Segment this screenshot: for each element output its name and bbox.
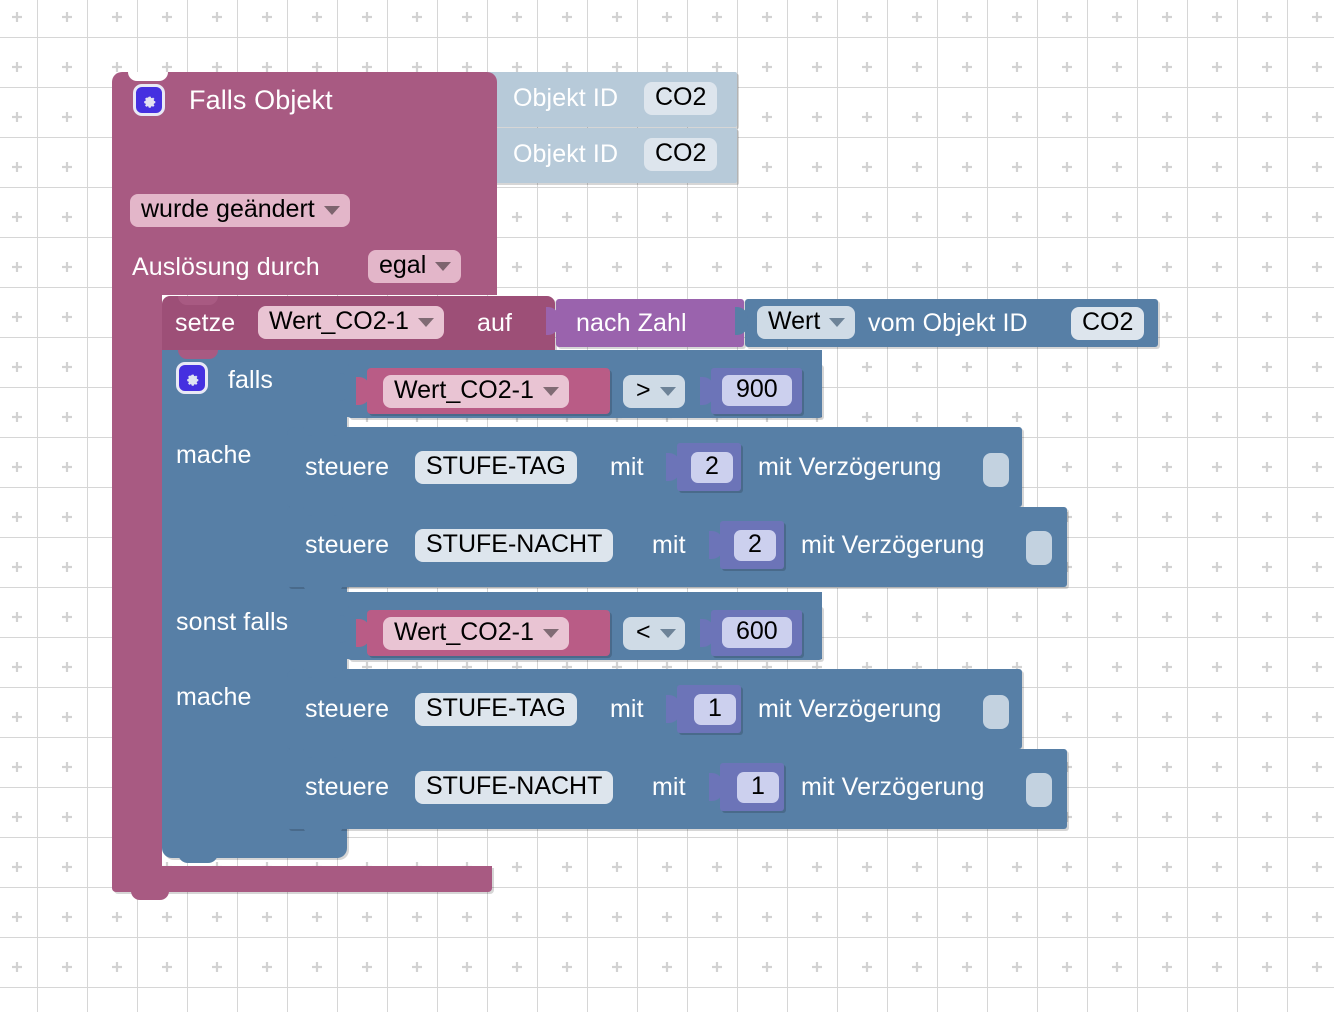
getter-property-value: Wert bbox=[768, 309, 820, 334]
else1-delay-label: mit Verzögerung bbox=[758, 697, 942, 722]
else2-top-notch bbox=[303, 749, 343, 758]
else2-target-field[interactable]: STUFE-NACHT bbox=[415, 771, 613, 804]
gear-glyph bbox=[183, 369, 201, 387]
object-id-value-block-2[interactable]: Objekt ID CO2 bbox=[487, 128, 737, 183]
then1-target-field[interactable]: STUFE-TAG bbox=[415, 451, 577, 484]
object-id-field-2[interactable]: CO2 bbox=[644, 138, 717, 171]
else1-top-notch bbox=[303, 669, 343, 678]
then1-delay-input[interactable] bbox=[983, 453, 1009, 487]
chevron-down-icon bbox=[435, 262, 451, 271]
event-gear-icon[interactable] bbox=[133, 84, 165, 116]
condition1-number-field[interactable]: 900 bbox=[722, 375, 792, 406]
else1-target-field[interactable]: STUFE-TAG bbox=[415, 693, 577, 726]
gear-glyph bbox=[140, 91, 158, 109]
trigger-type-dropdown[interactable]: wurde geändert bbox=[130, 194, 350, 227]
else2-delay-input[interactable] bbox=[1026, 773, 1052, 807]
chevron-down-icon bbox=[418, 318, 434, 327]
chevron-down-icon bbox=[660, 387, 676, 396]
event-block-bottom-bar bbox=[112, 866, 492, 892]
trigger-source-value: egal bbox=[379, 253, 426, 278]
set-keyword: setze bbox=[175, 311, 235, 336]
if-block-bottom-notch bbox=[178, 853, 218, 863]
condition1-variable-dropdown[interactable]: Wert_CO2-1 bbox=[383, 375, 569, 408]
do-label-1: mache bbox=[176, 443, 252, 468]
else1-with-label: mit bbox=[610, 697, 644, 722]
then1-top-notch bbox=[303, 427, 343, 436]
event-block-top-notch bbox=[128, 72, 168, 81]
elseif-label: sonst falls bbox=[176, 610, 288, 635]
chevron-down-icon bbox=[660, 629, 676, 638]
do-label-2: mache bbox=[176, 685, 252, 710]
then2-bottom-notch bbox=[303, 583, 343, 593]
set-block-top-notch bbox=[178, 296, 218, 305]
else1-delay-input[interactable] bbox=[983, 695, 1009, 729]
else2-delay-label: mit Verzögerung bbox=[801, 775, 985, 800]
then2-keyword: steuere bbox=[305, 533, 389, 558]
then2-top-notch bbox=[303, 507, 343, 516]
then1-value-field[interactable]: 2 bbox=[691, 452, 733, 483]
set-variable-dropdown[interactable]: Wert_CO2-1 bbox=[258, 306, 444, 339]
event-block-title: Falls Objekt bbox=[189, 87, 333, 114]
blockly-workspace[interactable]: Objekt ID CO2 Objekt ID CO2 Falls Objekt… bbox=[0, 0, 1334, 1012]
then2-with-label: mit bbox=[652, 533, 686, 558]
getter-from-label: vom Objekt ID bbox=[868, 311, 1028, 336]
condition2-variable-dropdown[interactable]: Wert_CO2-1 bbox=[383, 617, 569, 650]
else2-with-label: mit bbox=[652, 775, 686, 800]
chevron-down-icon bbox=[324, 206, 340, 215]
else1-value-field[interactable]: 1 bbox=[694, 694, 736, 725]
set-to-label: auf bbox=[477, 311, 512, 336]
object-id-value-block-1[interactable]: Objekt ID CO2 bbox=[487, 72, 737, 127]
trigger-source-label: Auslösung durch bbox=[132, 255, 320, 280]
trigger-type-value: wurde geändert bbox=[141, 197, 315, 222]
condition1-variable-value: Wert_CO2-1 bbox=[394, 378, 534, 403]
else2-keyword: steuere bbox=[305, 775, 389, 800]
chevron-down-icon bbox=[543, 387, 559, 396]
trigger-source-dropdown[interactable]: egal bbox=[368, 250, 461, 283]
convert-to-number-label: nach Zahl bbox=[576, 311, 687, 336]
if-block-top-notch bbox=[178, 350, 218, 359]
then2-delay-label: mit Verzögerung bbox=[801, 533, 985, 558]
event-block-left-spine bbox=[112, 290, 162, 873]
then1-with-label: mit bbox=[610, 455, 644, 480]
object-id-label-2: Objekt ID bbox=[513, 142, 618, 167]
chevron-down-icon bbox=[543, 629, 559, 638]
event-block-bottom-plug bbox=[131, 890, 169, 900]
else1-keyword: steuere bbox=[305, 697, 389, 722]
condition2-variable-value: Wert_CO2-1 bbox=[394, 620, 534, 645]
if-label: falls bbox=[228, 368, 273, 393]
condition2-operator-dropdown[interactable]: < bbox=[623, 617, 685, 650]
then1-keyword: steuere bbox=[305, 455, 389, 480]
getter-property-dropdown[interactable]: Wert bbox=[757, 306, 855, 339]
condition2-operator-value: < bbox=[636, 620, 651, 645]
set-variable-value: Wert_CO2-1 bbox=[269, 309, 409, 334]
then1-delay-label: mit Verzögerung bbox=[758, 455, 942, 480]
condition2-number-field[interactable]: 600 bbox=[722, 617, 792, 648]
object-id-label-1: Objekt ID bbox=[513, 86, 618, 111]
then2-delay-input[interactable] bbox=[1026, 531, 1052, 565]
getter-object-id-field[interactable]: CO2 bbox=[1071, 307, 1144, 340]
if-gear-icon[interactable] bbox=[176, 362, 208, 394]
else2-bottom-notch bbox=[303, 825, 343, 835]
chevron-down-icon bbox=[829, 318, 845, 327]
else2-value-field[interactable]: 1 bbox=[737, 772, 779, 803]
then2-target-field[interactable]: STUFE-NACHT bbox=[415, 529, 613, 562]
condition1-operator-value: > bbox=[636, 378, 651, 403]
condition1-operator-dropdown[interactable]: > bbox=[623, 375, 685, 408]
object-id-field-1[interactable]: CO2 bbox=[644, 82, 717, 115]
then2-value-field[interactable]: 2 bbox=[734, 530, 776, 561]
